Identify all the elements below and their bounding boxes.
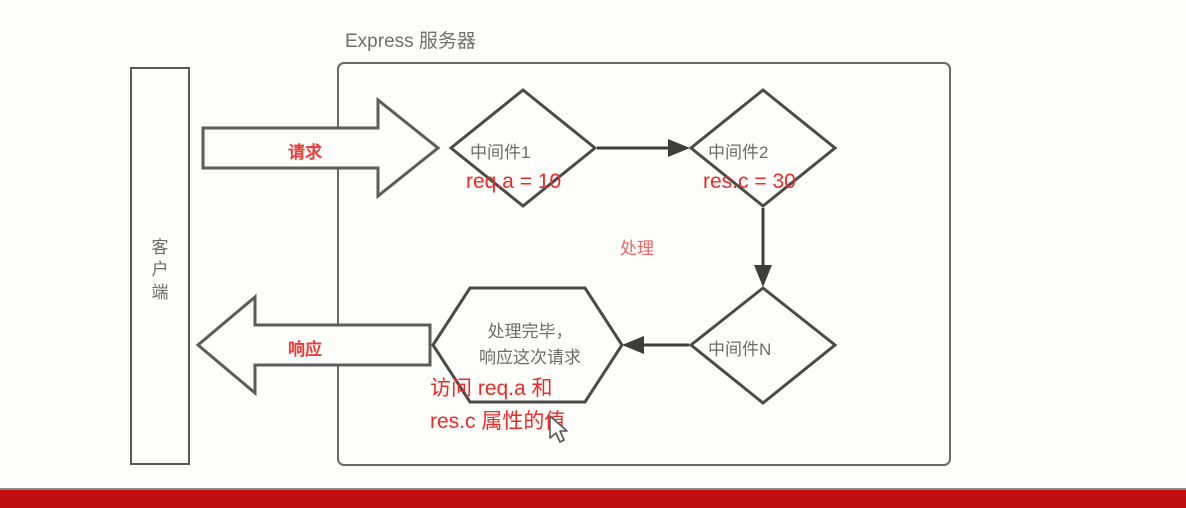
handler-label-line-2: 响应这次请求 — [455, 343, 605, 368]
video-progress-bar[interactable] — [0, 488, 1186, 508]
request-arrow-label: 请求 — [288, 138, 322, 163]
client-box: 客 户 端 — [130, 67, 190, 465]
middleware-1-label: 中间件1 — [470, 138, 530, 163]
middleware-1-annotation: req.a = 10 — [466, 170, 561, 194]
client-label-char-1: 客 — [132, 237, 188, 259]
handler-annotation-line-1: 访问 req.a 和 — [430, 372, 553, 402]
mouse-cursor — [548, 415, 570, 445]
handler-label-line-1: 处理完毕， — [470, 317, 590, 342]
client-label-char-3: 端 — [132, 282, 188, 304]
diagram-canvas: Express 服务器 客 户 端 请求 响应 处理 — [0, 0, 1186, 488]
client-label-char-2: 户 — [132, 259, 188, 281]
process-label: 处理 — [620, 234, 654, 259]
handler-annotation-line-2: res.c 属性的值 — [430, 405, 565, 435]
middleware-n-label: 中间件N — [708, 335, 771, 360]
middleware-2-label: 中间件2 — [708, 138, 768, 163]
response-arrow-label: 响应 — [288, 335, 322, 360]
express-server-title: Express 服务器 — [345, 26, 476, 53]
client-label: 客 户 端 — [132, 237, 188, 304]
middleware-2-annotation: res.c = 30 — [703, 170, 796, 194]
